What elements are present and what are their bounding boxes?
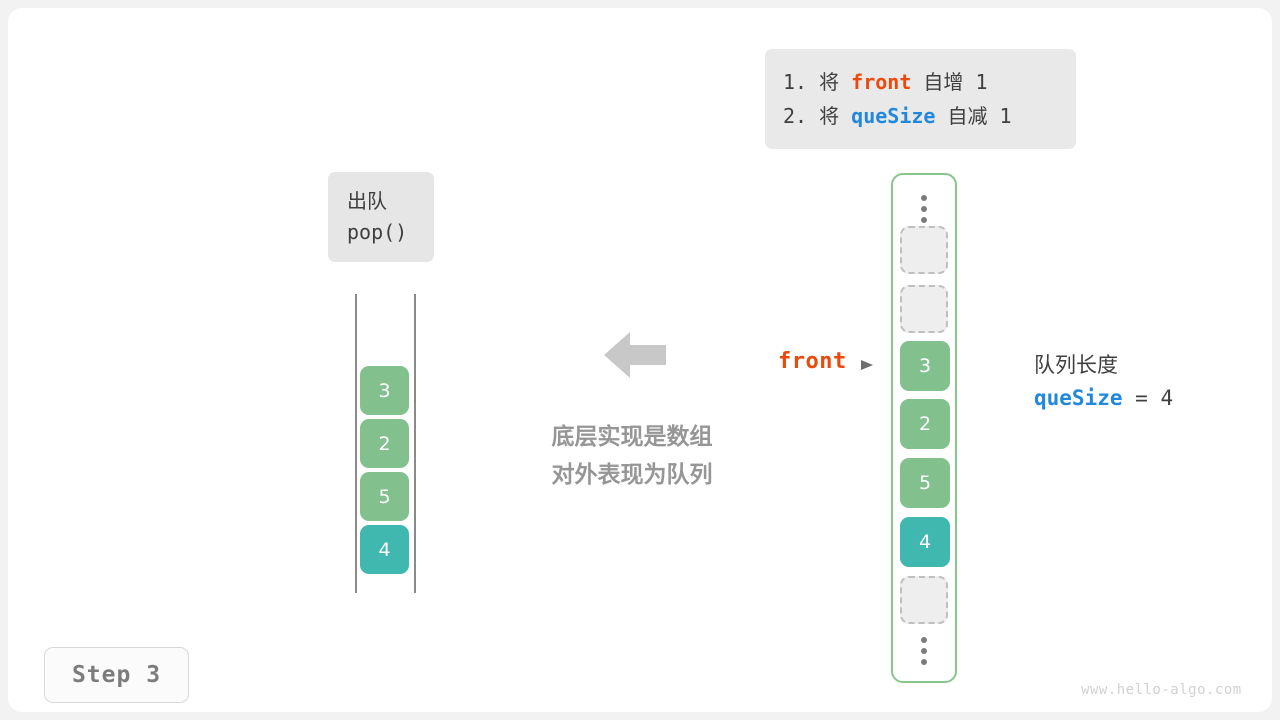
- array-cell-empty: [900, 285, 948, 333]
- queue-size-value: 4: [1160, 386, 1173, 410]
- array-cell: 2: [900, 399, 950, 449]
- queue-cell: 2: [360, 419, 409, 468]
- queue-rail-left: [355, 294, 357, 593]
- queue-size-expression: queSize = 4: [1034, 381, 1173, 415]
- figure-caption: 底层实现是数组 对外表现为队列: [497, 418, 767, 494]
- caption-line-1: 底层实现是数组: [497, 418, 767, 456]
- figure-page: 1. 将 front 自增 1 2. 将 queSize 自减 1 出队 pop…: [8, 8, 1272, 712]
- array-bottom-ellipsis-icon: [921, 637, 927, 665]
- instruction-2-keyword: queSize: [851, 104, 935, 128]
- queue-cell: 5: [360, 472, 409, 521]
- front-pointer-label: front: [778, 349, 847, 374]
- queue-size-variable: queSize: [1034, 386, 1123, 410]
- array-cell: 3: [900, 341, 950, 391]
- instruction-box: 1. 将 front 自增 1 2. 将 queSize 自减 1: [765, 49, 1076, 149]
- array-cell-empty: [900, 226, 948, 274]
- step-badge: Step 3: [44, 647, 189, 703]
- caption-line-2: 对外表现为队列: [497, 456, 767, 494]
- operation-title: 出队: [328, 186, 434, 216]
- instruction-line-2: 2. 将 queSize 自减 1: [765, 99, 1076, 133]
- array-top-ellipsis-icon: [921, 195, 927, 223]
- queue-size-note: 队列长度 queSize = 4: [1034, 349, 1173, 415]
- queue-cell: 3: [360, 366, 409, 415]
- queue-cell: 4: [360, 525, 409, 574]
- array-cell: 4: [900, 517, 950, 567]
- instruction-1-keyword: front: [851, 70, 911, 94]
- instruction-1-prefix: 1. 将: [783, 70, 851, 94]
- instruction-2-suffix: 自减 1: [935, 104, 1011, 128]
- watermark: www.hello-algo.com: [1081, 682, 1242, 698]
- queue-size-title: 队列长度: [1034, 349, 1173, 381]
- operation-label-box: 出队 pop(): [328, 172, 434, 262]
- instruction-line-1: 1. 将 front 自增 1: [765, 65, 1076, 99]
- operation-method: pop(): [328, 216, 434, 248]
- instruction-2-prefix: 2. 将: [783, 104, 851, 128]
- queue-cell-stack: 3 2 5 4: [360, 366, 409, 574]
- instruction-1-suffix: 自增 1: [911, 70, 987, 94]
- array-cell-empty: [900, 576, 948, 624]
- left-arrow-icon: [604, 330, 666, 380]
- queue-size-equals: =: [1123, 386, 1161, 410]
- front-pointer-arrow-icon: [861, 356, 879, 374]
- queue-rail-right: [414, 294, 416, 593]
- array-container: 3 2 5 4: [891, 173, 957, 683]
- figure-canvas: 1. 将 front 自增 1 2. 将 queSize 自减 1 出队 pop…: [0, 0, 1280, 720]
- array-cell: 5: [900, 458, 950, 508]
